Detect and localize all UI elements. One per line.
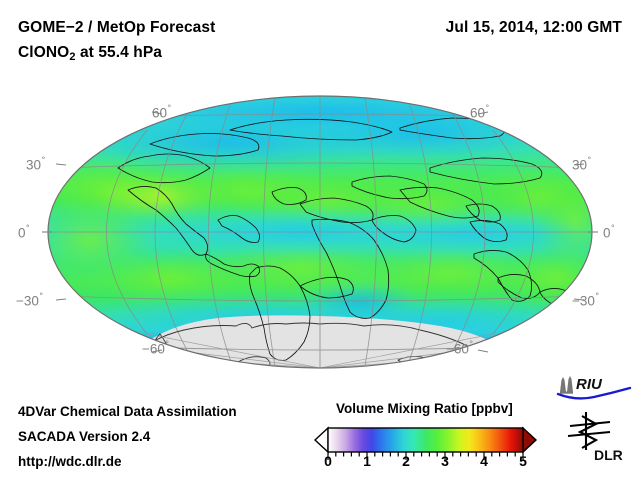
dlr-wordmark: DLR: [594, 447, 623, 463]
figure-canvas: GOME−2 / MetOp Forecast ClONO2 at 55.4 h…: [0, 0, 640, 480]
world-map-plot: [0, 72, 640, 382]
lat-label-30n-left: 30°: [26, 156, 45, 173]
lat-label-60s-left: −60°: [142, 340, 169, 357]
colorbar-tick-0: 0: [324, 453, 332, 469]
lat-label-0-right: 0°: [603, 224, 614, 241]
lat-label-30s-left: −30°: [16, 292, 43, 309]
lat-label-60s-right: −60°: [446, 340, 473, 357]
colorbar-tick-5: 5: [519, 453, 527, 469]
colorbar-tick-4: 4: [480, 453, 488, 469]
lat-label-60n-left: 60°: [152, 104, 171, 121]
species-level: at 55.4 hPa: [76, 44, 163, 61]
footer-version: SACADA Version 2.4: [18, 429, 150, 444]
colorbar-tick-2: 2: [402, 453, 410, 469]
page-title: GOME−2 / MetOp Forecast: [18, 19, 215, 37]
field-anomalies: [15, 90, 620, 346]
species-name: ClONO: [18, 44, 69, 61]
footer-method: 4DVar Chemical Data Assimilation: [18, 404, 237, 419]
colorbar-max-arrow: [523, 428, 536, 452]
riu-spires-icon: [560, 376, 573, 394]
lat-label-30n-right: 30°: [572, 156, 591, 173]
dlr-aircraft-icon: [568, 412, 610, 450]
lat-label-30s-right: −30°: [572, 292, 599, 309]
riu-logo: RIU: [556, 374, 632, 402]
lat-label-0-left: 0°: [18, 224, 29, 241]
species-subtitle: ClONO2 at 55.4 hPa: [18, 44, 162, 62]
colorbar-tick-1: 1: [363, 453, 371, 469]
species-subscript: 2: [69, 51, 75, 63]
colorbar: 0 1 2 3 4 5: [310, 420, 540, 470]
colorbar-bar[interactable]: [328, 428, 523, 452]
footer-url[interactable]: http://wdc.dlr.de: [18, 454, 122, 469]
lat-label-60n-right: 60°: [470, 104, 489, 121]
riu-wordmark: RIU: [576, 376, 603, 393]
colorbar-min-arrow: [315, 428, 328, 452]
datetime-label: Jul 15, 2014, 12:00 GMT: [446, 19, 622, 37]
dlr-logo: DLR: [566, 410, 632, 466]
colorbar-title: Volume Mixing Ratio [ppbv]: [336, 401, 513, 416]
colorbar-ticks: [328, 452, 523, 460]
data-field: [15, 90, 620, 382]
colorbar-tick-3: 3: [441, 453, 449, 469]
